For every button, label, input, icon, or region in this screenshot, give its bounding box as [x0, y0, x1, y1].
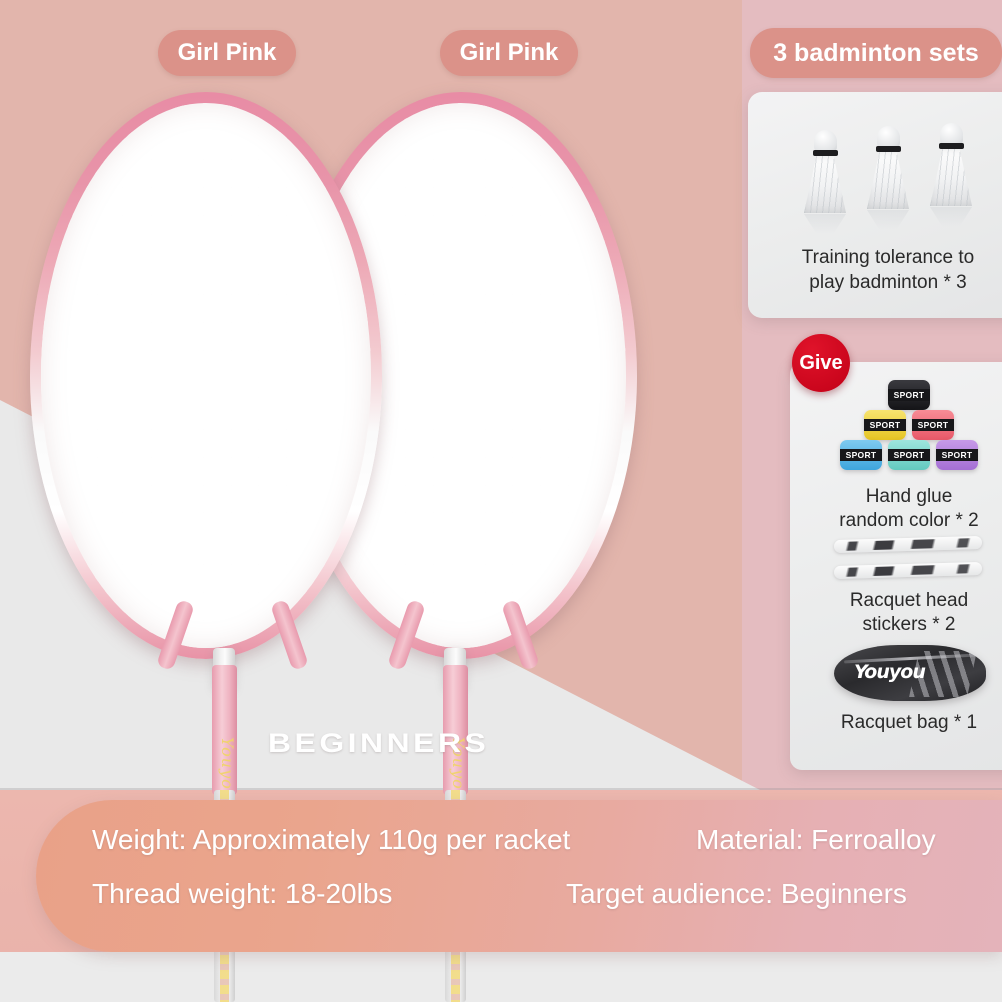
info-material: Material: Ferroalloy	[696, 824, 936, 856]
badge-girl-pink-right: Girl Pink	[440, 30, 578, 76]
give-card: SPORT SPORT SPORT SPORT SPORT SPORT Hand…	[790, 362, 1002, 770]
info-target-audience: Target audience: Beginners	[566, 878, 907, 910]
racquet-head-sticker-icon	[834, 562, 982, 579]
beginners-overlay-text: BEGINNERS	[268, 728, 518, 759]
info-row-2: Thread weight: 18-20lbs Target audience:…	[36, 878, 1002, 934]
grip-tape-label: SPORT	[936, 449, 978, 461]
info-row-1: Weight: Approximately 110g per racket Ma…	[36, 824, 1002, 880]
hand-glue-caption-line2: random color * 2	[790, 508, 1002, 533]
shuttlecock-reflection	[804, 214, 846, 234]
bag-caption-line1: Racquet bag * 1	[790, 710, 1002, 735]
shuttlecock-icon	[865, 126, 911, 212]
sticker-artwork	[842, 538, 974, 551]
grip-tape-mint: SPORT	[888, 440, 930, 470]
grip-tape-blue: SPORT	[840, 440, 882, 470]
shuttlecock-icon	[802, 130, 848, 216]
hand-glue-caption-line1: Hand glue	[790, 484, 1002, 509]
shuttlecock-reflection	[867, 210, 909, 230]
grip-tape-label: SPORT	[840, 449, 882, 461]
stickers-caption-line2: stickers * 2	[790, 612, 1002, 637]
badge-girl-pink-left: Girl Pink	[158, 30, 296, 76]
racket-left-grip: Youyou	[212, 665, 237, 795]
racket-left-head	[30, 92, 382, 659]
grip-tape-pink: SPORT	[912, 410, 954, 440]
grip-tape-label: SPORT	[888, 389, 930, 401]
product-image: Youyou Youyou BEGINNERS Girl Pink Girl P…	[0, 0, 1002, 1002]
shuttlecock-caption-line1: Training tolerance to	[748, 245, 1002, 270]
racquet-bag-logo: Youyou	[854, 661, 925, 683]
shuttlecock-band	[813, 150, 838, 156]
badge-badminton-sets: 3 badminton sets	[750, 28, 1002, 78]
racquet-bag-icon: Youyou	[834, 645, 986, 701]
shuttlecock-feathers	[930, 148, 972, 206]
info-thread-weight: Thread weight: 18-20lbs	[92, 878, 392, 910]
shuttlecock-icon	[928, 123, 974, 209]
racket-left-head-shade	[41, 103, 371, 648]
background-bottom-gray	[0, 952, 1002, 1002]
grip-tape-yellow: SPORT	[864, 410, 906, 440]
give-badge: Give	[792, 334, 850, 392]
stickers-caption-line1: Racquet head	[790, 588, 1002, 613]
shuttlecock-feathers	[804, 155, 846, 213]
racquet-head-sticker-icon	[834, 536, 982, 553]
shuttlecock-band	[876, 146, 901, 152]
info-weight: Weight: Approximately 110g per racket	[92, 824, 570, 856]
racket-left-grip-script: Youyou	[212, 737, 237, 795]
grip-tape-label: SPORT	[888, 449, 930, 461]
shuttlecock-reflection	[930, 207, 972, 227]
grip-tape-black: SPORT	[888, 380, 930, 410]
grip-tape-purple: SPORT	[936, 440, 978, 470]
sticker-artwork	[842, 564, 974, 577]
shuttlecock-feathers	[867, 151, 909, 209]
grip-tape-label: SPORT	[864, 419, 906, 431]
shuttlecock-card: Training tolerance to play badminton * 3	[748, 92, 1002, 318]
grip-tape-label: SPORT	[912, 419, 954, 431]
shuttlecock-band	[939, 143, 964, 149]
shuttlecock-caption-line2: play badminton * 3	[748, 270, 1002, 295]
info-panel: Weight: Approximately 110g per racket Ma…	[36, 800, 1002, 952]
